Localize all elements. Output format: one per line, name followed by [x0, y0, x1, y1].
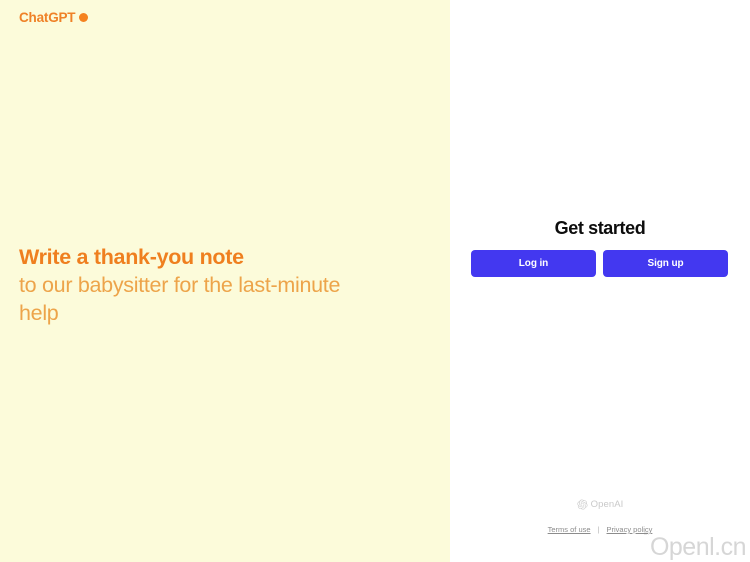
legal-links: Terms of use | Privacy policy	[450, 525, 750, 534]
prompt-headline: Write a thank-you note	[19, 243, 419, 271]
chatgpt-brand-logo: ChatGPT	[19, 11, 88, 25]
privacy-policy-link[interactable]: Privacy policy	[607, 525, 653, 534]
legal-separator: |	[598, 525, 600, 534]
sample-prompt: Write a thank-you note to our babysitter…	[19, 243, 419, 327]
orange-dot-icon	[79, 13, 88, 22]
login-page: ChatGPT Write a thank-you note to our ba…	[0, 0, 750, 562]
page-title: Get started	[450, 217, 750, 239]
chatgpt-brand-label: ChatGPT	[19, 11, 75, 25]
auth-button-group: Log in Sign up	[471, 250, 728, 277]
terms-of-use-link[interactable]: Terms of use	[548, 525, 591, 534]
openai-logo-icon	[577, 499, 588, 510]
openai-footer-logo: OpenAI	[450, 499, 750, 510]
left-promo-panel: ChatGPT Write a thank-you note to our ba…	[0, 0, 450, 562]
prompt-subline-1: to our babysitter for the last-minute	[19, 271, 419, 299]
signup-button[interactable]: Sign up	[603, 250, 728, 277]
openai-wordmark: OpenAI	[591, 500, 624, 510]
right-auth-panel: Get started Log in Sign up OpenAI Terms …	[450, 0, 750, 562]
login-button[interactable]: Log in	[471, 250, 596, 277]
prompt-subline-2: help	[19, 299, 419, 327]
